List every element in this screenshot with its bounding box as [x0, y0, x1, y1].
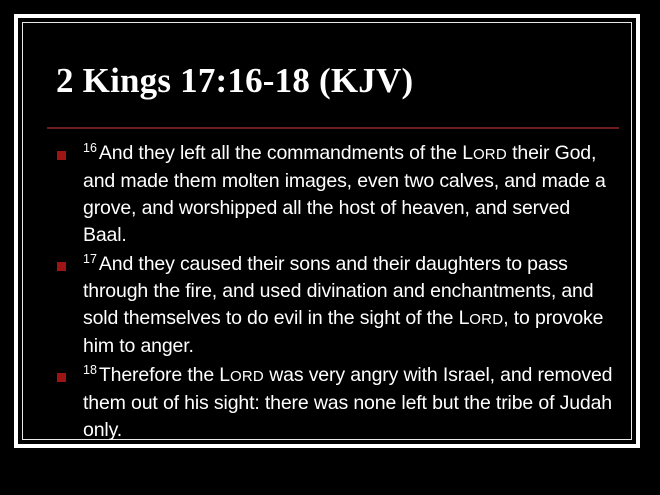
presentation-slide: 2 Kings 17:16-18 (KJV) 16And they left a…: [0, 0, 660, 495]
verse-text-before-lord: Therefore the: [99, 364, 219, 386]
square-bullet-icon: [57, 373, 66, 382]
verse-text: 18Therefore the LORD was very angry with…: [83, 362, 621, 444]
verse-number: 17: [83, 252, 99, 266]
square-bullet-icon: [57, 151, 66, 160]
lord-capital-l: L: [459, 307, 470, 329]
lord-small-caps-ord: ORD: [473, 146, 507, 163]
verse-text-before-lord: And they left all the commandments of th…: [99, 142, 462, 164]
list-item: 17And they caused their sons and their d…: [39, 251, 621, 360]
divine-name-lord: LORD: [462, 142, 507, 164]
square-bullet-icon: [57, 262, 66, 271]
verse-text: 16And they left all the commandments of …: [83, 140, 621, 249]
slide-content: 2 Kings 17:16-18 (KJV) 16And they left a…: [23, 23, 631, 439]
list-item: 16And they left all the commandments of …: [39, 140, 621, 249]
list-item: 18Therefore the LORD was very angry with…: [39, 362, 621, 444]
verse-list: 16And they left all the commandments of …: [39, 140, 621, 446]
slide-border-inner-line: 2 Kings 17:16-18 (KJV) 16And they left a…: [22, 22, 632, 440]
lord-small-caps-ord: ORD: [230, 368, 264, 385]
lord-small-caps-ord: ORD: [469, 311, 503, 328]
verse-number: 16: [83, 141, 99, 155]
title-divider-rule: [47, 127, 619, 129]
divine-name-lord: LORD: [219, 364, 264, 386]
lord-capital-l: L: [462, 142, 473, 164]
lord-capital-l: L: [219, 364, 230, 386]
slide-title: 2 Kings 17:16-18 (KJV): [56, 61, 616, 101]
verse-text: 17And they caused their sons and their d…: [83, 251, 621, 360]
verse-number: 18: [83, 363, 99, 377]
divine-name-lord: LORD: [459, 307, 504, 329]
slide-border-frame: 2 Kings 17:16-18 (KJV) 16And they left a…: [14, 14, 640, 448]
